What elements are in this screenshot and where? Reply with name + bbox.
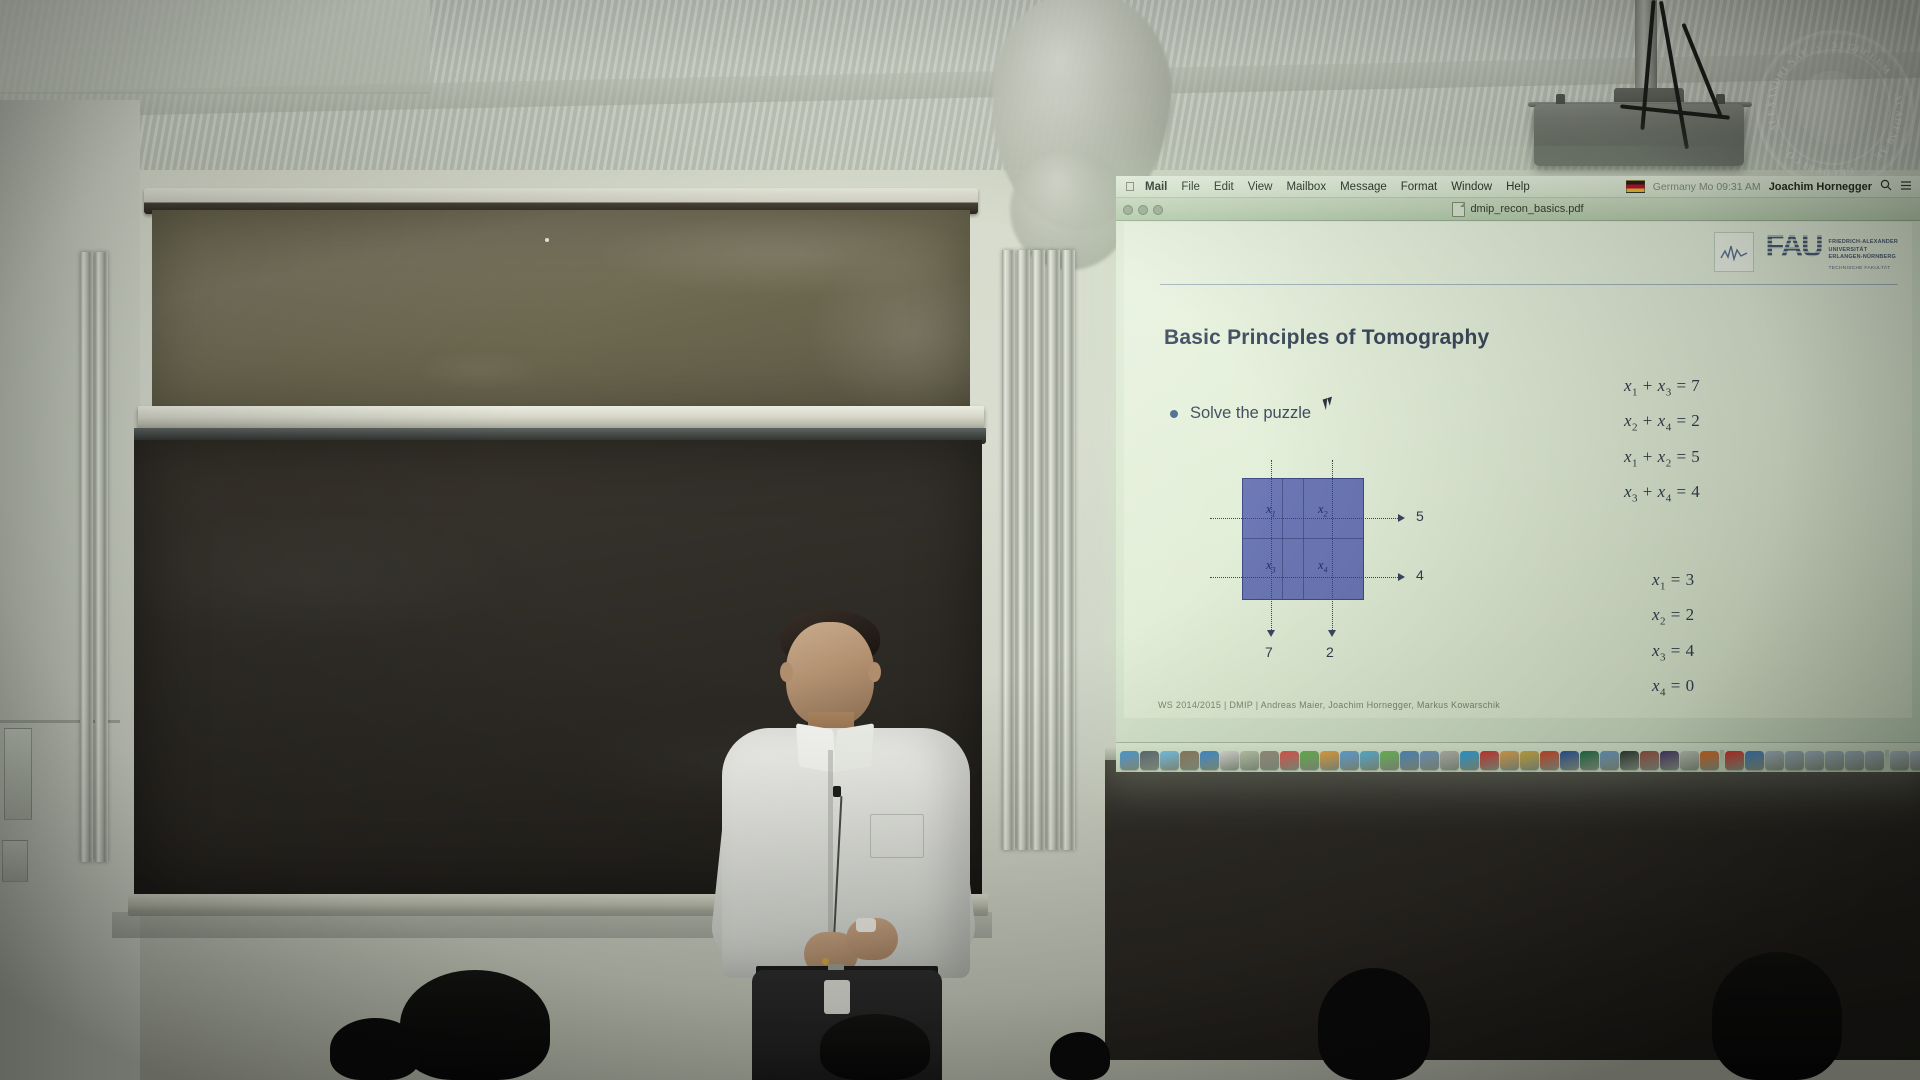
dock-appstore-icon[interactable]	[1400, 751, 1419, 770]
wall-vent	[4, 728, 32, 820]
menu-item-view[interactable]: View	[1241, 181, 1280, 193]
board-slide-track	[1017, 250, 1030, 850]
microphone-beltpack	[824, 980, 850, 1014]
lecturer-head	[786, 622, 874, 726]
dock-calendar-icon[interactable]	[1280, 751, 1299, 770]
university-seal-watermark: SIGILLUM · ACADEMIAE · FRIDERICO · ALEXA…	[1756, 30, 1914, 188]
board-slide-track	[1047, 250, 1060, 850]
dock-keynote-icon[interactable]	[1600, 751, 1619, 770]
dock-maps-icon[interactable]	[1340, 751, 1359, 770]
lecturer-ear	[868, 662, 881, 682]
dock-skype-icon[interactable]	[1460, 751, 1479, 770]
arrow-row-1	[1398, 514, 1405, 522]
equation-3: x1 + x2 = 5	[1624, 447, 1864, 469]
fau-logo: FAU FRIEDRICH-ALEXANDER UNIVERSITÄT ERLA…	[1766, 233, 1898, 271]
dock-folder-documents-icon[interactable]	[1785, 751, 1804, 770]
arrow-col-2	[1328, 630, 1336, 637]
wall-vent-lower	[2, 840, 28, 882]
german-flag-icon[interactable]	[1626, 180, 1645, 193]
presentation-clicker	[856, 918, 876, 932]
fau-logo-text: FRIEDRICH-ALEXANDER UNIVERSITÄT ERLANGEN…	[1829, 233, 1898, 271]
seal-char: E	[1767, 109, 1777, 116]
seal-char: X	[1767, 100, 1777, 108]
solution-list: x1 = 3x2 = 2x3 = 4x4 = 0	[1652, 570, 1852, 712]
waveform-icon	[1714, 232, 1754, 272]
fau-faculty: TECHNISCHE FAKULTÄT	[1829, 266, 1898, 271]
dock-terminal-icon[interactable]	[1620, 751, 1639, 770]
dock-ical-icon[interactable]	[1220, 751, 1239, 770]
row-sum-2: 4	[1416, 567, 1424, 583]
menubar-clock[interactable]: Germany Mo 09:31 AM	[1653, 181, 1761, 193]
lecturer-collar-right	[834, 723, 874, 773]
dock-powerpoint-icon[interactable]	[1540, 751, 1559, 770]
dock-matlab-icon[interactable]	[1640, 751, 1659, 770]
ray-row-2	[1210, 577, 1400, 578]
puzzle-diagram: x1 x2 x3 x4 5 4 7 2	[1166, 458, 1466, 658]
seal-char	[1824, 42, 1828, 52]
solution-1: x1 = 3	[1652, 570, 1852, 592]
solution-3: x3 = 4	[1652, 641, 1852, 663]
zoom-icon[interactable]	[1153, 205, 1163, 215]
dock-firefox-icon[interactable]	[1320, 751, 1339, 770]
menu-item-format[interactable]: Format	[1394, 181, 1444, 193]
slide-footer: WS 2014/2015 | DMIP | Andreas Maier, Joa…	[1158, 700, 1500, 710]
ray-col-2	[1332, 460, 1333, 632]
audience-head	[1050, 1032, 1110, 1080]
solution-2: x2 = 2	[1652, 605, 1852, 627]
seal-char: ·	[1886, 77, 1897, 85]
notification-center-icon[interactable]	[1900, 180, 1912, 194]
seal-char: C	[1893, 102, 1903, 110]
slide-title: Basic Principles of Tomography	[1164, 326, 1489, 350]
col-sum-2: 2	[1326, 644, 1334, 660]
cell-label-x4: x4	[1318, 558, 1328, 575]
lecturer	[700, 600, 1010, 1080]
close-icon[interactable]	[1123, 205, 1133, 215]
solution-4: x4 = 0	[1652, 676, 1852, 698]
dock-separator	[1885, 750, 1889, 770]
bullet-label: Solve the puzzle	[1190, 404, 1311, 423]
ray-col-1	[1271, 460, 1272, 632]
seal-char: I	[1839, 41, 1844, 51]
equation-system: x1 + x3 = 7x2 + x4 = 2x1 + x2 = 5x3 + x4…	[1624, 376, 1864, 518]
dock-eclipse-icon[interactable]	[1660, 751, 1679, 770]
dock-dashboard-icon[interactable]	[1140, 751, 1159, 770]
blackboard-upper	[152, 210, 970, 410]
menu-item-mailbox[interactable]: Mailbox	[1279, 181, 1333, 193]
puzzle-grid	[1242, 478, 1364, 600]
minimize-icon[interactable]	[1138, 205, 1148, 215]
search-icon[interactable]	[1880, 179, 1892, 194]
seal-char	[1856, 162, 1862, 172]
dock-texshop-icon[interactable]	[1680, 751, 1699, 770]
dock-folder-desktop-icon[interactable]	[1805, 751, 1824, 770]
seal-char	[1889, 85, 1899, 91]
dock-stack-icon[interactable]	[1890, 751, 1909, 770]
seal-char: ·	[1862, 158, 1870, 169]
dock-dropbox-icon[interactable]	[1745, 751, 1764, 770]
dock-ableton-icon[interactable]	[1520, 751, 1539, 770]
slide-divider	[1160, 284, 1898, 285]
board-slide-track	[95, 252, 108, 862]
audience-head	[330, 1018, 420, 1080]
window-traffic-lights[interactable]	[1123, 205, 1163, 215]
dock-opera-icon[interactable]	[1480, 751, 1499, 770]
dock-vlc-icon[interactable]	[1700, 751, 1719, 770]
slide-logos: FAU FRIEDRICH-ALEXANDER UNIVERSITÄT ERLA…	[1714, 232, 1898, 272]
seal-text: SIGILLUM · ACADEMIAE · FRIDERICO · ALEXA…	[1759, 33, 1911, 185]
chalk-speck	[545, 238, 549, 242]
pdf-slide[interactable]: FAU FRIEDRICH-ALEXANDER UNIVERSITÄT ERLA…	[1124, 222, 1912, 718]
lecturer-shirt-pocket	[870, 814, 924, 858]
col-sum-1: 7	[1265, 644, 1273, 660]
menubar-status-area: Germany Mo 09:31 AM Joachim Hornegger	[1626, 179, 1914, 194]
dock-folder-downloads-icon[interactable]	[1765, 751, 1784, 770]
row-sum-1: 5	[1416, 508, 1424, 524]
dock-folder-icon[interactable]	[1865, 751, 1884, 770]
macos-menubar[interactable]:  Mail File Edit View Mailbox Message Fo…	[1116, 176, 1920, 198]
chalk-residue	[152, 210, 970, 410]
seal-char	[1774, 134, 1784, 141]
dock-utilities-icon[interactable]	[1440, 751, 1459, 770]
lecture-hall-screenshot: SIGILLUM · ACADEMIAE · FRIDERICO · ALEXA…	[0, 0, 1920, 1080]
audience-head	[400, 970, 550, 1080]
seal-char: F	[1846, 164, 1855, 175]
arrow-row-2	[1398, 573, 1405, 581]
dock-preview-icon[interactable]	[1240, 751, 1259, 770]
window-title: dmip_recon_basics.pdf	[1470, 203, 1583, 215]
arrow-col-1	[1267, 630, 1275, 637]
dock-itunes-icon[interactable]	[1260, 751, 1279, 770]
dock-chrome-icon[interactable]	[1300, 751, 1319, 770]
menu-item-help[interactable]: Help	[1499, 181, 1537, 193]
projection-screen:  Mail File Edit View Mailbox Message Fo…	[1116, 176, 1920, 772]
cell-label-x2: x2	[1318, 502, 1328, 519]
dock-separator	[1720, 750, 1724, 770]
menu-item-file[interactable]: File	[1174, 181, 1207, 193]
lecturer-shirt-placket	[828, 750, 833, 950]
dock-address-book-icon[interactable]	[1180, 751, 1199, 770]
dock-messages-icon[interactable]	[1380, 751, 1399, 770]
equation-1: x1 + x3 = 7	[1624, 376, 1864, 398]
dock-mailbox-icon[interactable]	[1500, 751, 1519, 770]
bullet-dot-icon	[1170, 410, 1178, 418]
fau-wordmark: FAU	[1766, 233, 1822, 259]
dock-time-machine-icon[interactable]	[1420, 751, 1439, 770]
audience-head	[820, 1014, 930, 1080]
dock-folder-icon[interactable]	[1825, 751, 1844, 770]
dock-photos-icon[interactable]	[1360, 751, 1379, 770]
dock-safari-icon[interactable]	[1200, 751, 1219, 770]
slide-bullet: Solve the puzzle	[1170, 404, 1311, 423]
macos-dock[interactable]	[1116, 742, 1920, 772]
fau-line-1: FRIEDRICH-ALEXANDER	[1829, 239, 1898, 247]
fau-line-3: ERLANGEN-NÜRNBERG	[1829, 254, 1898, 262]
dock-mail-icon[interactable]	[1160, 751, 1179, 770]
ceiling-panel	[0, 0, 430, 94]
menubar-username[interactable]: Joachim Hornegger	[1769, 181, 1872, 193]
audience-head	[1712, 952, 1842, 1080]
dock-word-icon[interactable]	[1560, 751, 1579, 770]
audience-head	[1318, 968, 1430, 1080]
board-slide-track	[1032, 250, 1045, 850]
menu-item-window[interactable]: Window	[1444, 181, 1499, 193]
equation-4: x3 + x4 = 4	[1624, 482, 1864, 504]
equation-2: x2 + x4 = 2	[1624, 411, 1864, 433]
dock-acrobat-icon[interactable]	[1725, 751, 1744, 770]
seal-char: S	[1832, 41, 1838, 51]
dock-excel-icon[interactable]	[1580, 751, 1599, 770]
window-titlebar[interactable]: dmip_recon_basics.pdf	[1116, 198, 1920, 221]
grid-line-h	[1243, 538, 1363, 539]
seal-char: ·	[1815, 43, 1821, 54]
dock-folder-icon[interactable]	[1845, 751, 1864, 770]
seal-char: ·	[1777, 140, 1787, 148]
dock-finder-icon[interactable]	[1120, 751, 1139, 770]
apple-logo-icon[interactable]: 	[1122, 179, 1138, 194]
dock-stack-icon[interactable]	[1910, 751, 1920, 770]
mouse-cursor-icon	[1323, 397, 1335, 410]
board-slide-track	[1062, 250, 1075, 850]
ray-row-1	[1210, 518, 1400, 519]
pdf-file-icon	[1452, 202, 1465, 217]
menu-item-edit[interactable]: Edit	[1207, 181, 1241, 193]
lecturer-ear	[780, 662, 793, 682]
board-slide-track	[80, 252, 93, 862]
menu-item-mail[interactable]: Mail	[1138, 181, 1174, 193]
menu-item-message[interactable]: Message	[1333, 181, 1394, 193]
